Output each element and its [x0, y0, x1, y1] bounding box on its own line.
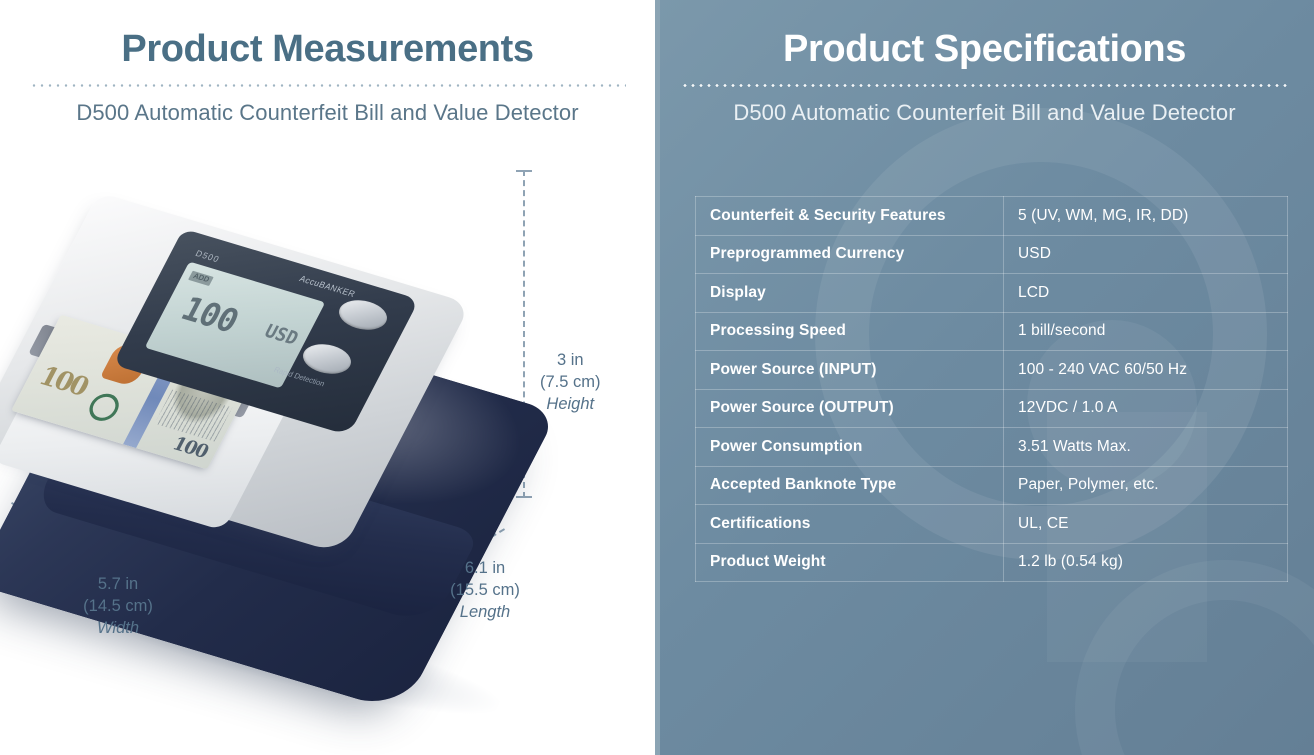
spec-value: LCD: [1004, 274, 1288, 313]
table-row: Product Weight 1.2 lb (0.54 kg): [696, 543, 1288, 582]
dimension-label-width: 5.7 in (14.5 cm) Width: [55, 574, 181, 639]
specifications-header: Product Specifications D500 Automatic Co…: [655, 0, 1314, 126]
spec-value: UL, CE: [1004, 505, 1288, 544]
product-infographic: Product Measurements D500 Automatic Coun…: [0, 0, 1314, 755]
lcd-value: 100: [175, 290, 244, 340]
spec-value: 100 - 240 VAC 60/50 Hz: [1004, 351, 1288, 390]
table-row: Display LCD: [696, 274, 1288, 313]
table-row: Power Source (OUTPUT) 12VDC / 1.0 A: [696, 389, 1288, 428]
spec-value: USD: [1004, 235, 1288, 274]
spec-value: 1.2 lb (0.54 kg): [1004, 543, 1288, 582]
page-subtitle: D500 Automatic Counterfeit Bill and Valu…: [0, 100, 655, 126]
spec-label: Power Consumption: [696, 428, 1004, 467]
measurements-header: Product Measurements D500 Automatic Coun…: [0, 0, 655, 126]
height-value: 3 in: [557, 351, 584, 369]
width-metric: (14.5 cm): [55, 596, 181, 618]
spec-label: Preprogrammed Currency: [696, 235, 1004, 274]
spec-title-divider-dotted: [681, 84, 1289, 87]
specifications-panel: Product Specifications D500 Automatic Co…: [655, 0, 1314, 755]
length-metric: (15.5 cm): [420, 580, 550, 602]
page-title: Product Measurements: [0, 0, 655, 72]
banknote-treasury-seal: [84, 390, 124, 424]
panel-divider: [655, 0, 660, 755]
spec-label: Power Source (INPUT): [696, 351, 1004, 390]
spec-table-body: Counterfeit & Security Features 5 (UV, W…: [696, 197, 1288, 582]
spec-page-title: Product Specifications: [655, 0, 1314, 72]
spec-page-subtitle: D500 Automatic Counterfeit Bill and Valu…: [655, 100, 1314, 126]
lcd-mode-tag: ADD: [188, 271, 214, 286]
table-row: Power Consumption 3.51 Watts Max.: [696, 428, 1288, 467]
dimension-label-height: 3 in (7.5 cm) Height: [540, 350, 601, 415]
spec-value: 1 bill/second: [1004, 312, 1288, 351]
table-row: Accepted Banknote Type Paper, Polymer, e…: [696, 466, 1288, 505]
spec-label: Power Source (OUTPUT): [696, 389, 1004, 428]
spec-label: Processing Speed: [696, 312, 1004, 351]
spec-label: Product Weight: [696, 543, 1004, 582]
dimension-label-length: 6.1 in (15.5 cm) Length: [420, 558, 550, 623]
length-value: 6.1 in: [465, 559, 505, 577]
spec-label: Counterfeit & Security Features: [696, 197, 1004, 236]
table-row: Power Source (INPUT) 100 - 240 VAC 60/50…: [696, 351, 1288, 390]
spec-value: 3.51 Watts Max.: [1004, 428, 1288, 467]
lcd-currency: USD: [261, 321, 302, 350]
height-axis: Height: [540, 394, 601, 416]
spec-label: Certifications: [696, 505, 1004, 544]
table-row: Preprogrammed Currency USD: [696, 235, 1288, 274]
height-metric: (7.5 cm): [540, 372, 601, 394]
table-row: Counterfeit & Security Features 5 (UV, W…: [696, 197, 1288, 236]
banknote-denomination-left: 100: [34, 360, 93, 402]
product-illustration: 100 100 ADD 100 USD D500 AccuBANKER Rapi…: [0, 150, 655, 755]
width-axis: Width: [55, 618, 181, 640]
spec-value: Paper, Polymer, etc.: [1004, 466, 1288, 505]
table-row: Processing Speed 1 bill/second: [696, 312, 1288, 351]
width-value: 5.7 in: [98, 575, 138, 593]
spec-label: Accepted Banknote Type: [696, 466, 1004, 505]
measurements-panel: Product Measurements D500 Automatic Coun…: [0, 0, 655, 755]
specifications-table: Counterfeit & Security Features 5 (UV, W…: [695, 196, 1288, 582]
spec-value: 5 (UV, WM, MG, IR, DD): [1004, 197, 1288, 236]
table-row: Certifications UL, CE: [696, 505, 1288, 544]
length-axis: Length: [420, 602, 550, 624]
height-guide-tick-top: [516, 170, 532, 172]
title-divider-dotted: [30, 84, 626, 87]
spec-label: Display: [696, 274, 1004, 313]
spec-value: 12VDC / 1.0 A: [1004, 389, 1288, 428]
